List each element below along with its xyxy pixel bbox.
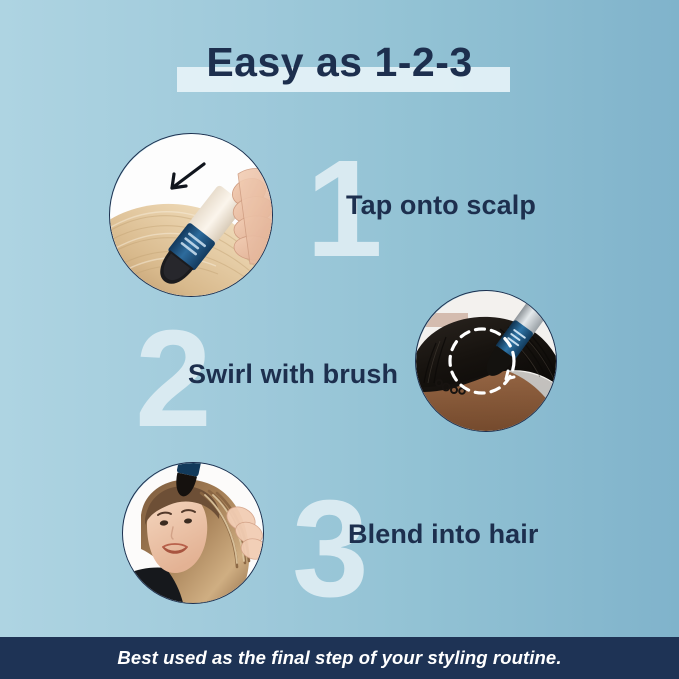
footer-text: Best used as the final step of your styl… xyxy=(117,647,561,669)
blonde-hair-tap-illustration xyxy=(110,134,273,297)
step-1-label: Tap onto scalp xyxy=(346,190,536,221)
step-3-label: Blend into hair xyxy=(348,519,539,550)
step-2-photo xyxy=(415,290,557,432)
step-2-label: Swirl with brush xyxy=(188,359,398,390)
woman-blending-hair-illustration xyxy=(123,463,264,604)
curly-hair-swirl-illustration xyxy=(416,291,557,432)
step-3-photo xyxy=(122,462,264,604)
step-1-photo xyxy=(109,133,273,297)
title-text: Easy as 1-2-3 xyxy=(0,36,679,88)
promo-poster: Easy as 1-2-3 1 Tap onto scalp xyxy=(0,0,679,679)
footer-banner: Best used as the final step of your styl… xyxy=(0,637,679,679)
page-title: Easy as 1-2-3 xyxy=(0,36,679,96)
